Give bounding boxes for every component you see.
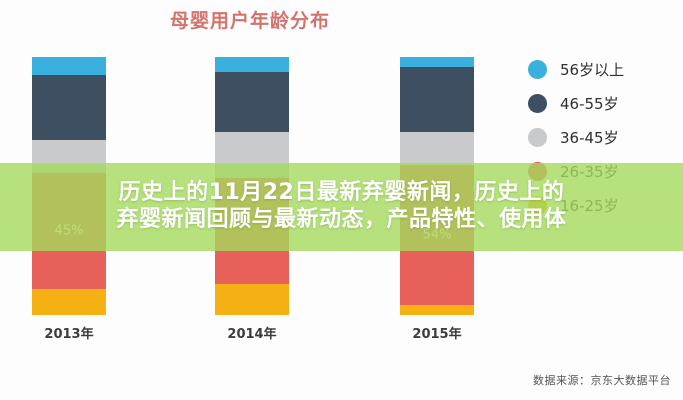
data-source-note: 数据来源：京东大数据平台 bbox=[533, 372, 671, 388]
legend-swatch-icon bbox=[528, 128, 547, 147]
legend-item[interactable]: 36-45岁 bbox=[528, 120, 678, 154]
chart-title: 母婴用户年龄分布 bbox=[0, 6, 500, 33]
bar-segment[interactable] bbox=[400, 57, 474, 67]
legend-swatch-icon bbox=[528, 60, 547, 79]
x-axis-tick-label: 2013年 bbox=[12, 323, 126, 342]
legend-swatch-icon bbox=[528, 94, 547, 113]
legend-item[interactable]: 56岁以上 bbox=[528, 52, 678, 86]
bar-segment[interactable] bbox=[32, 75, 106, 140]
bar-segment[interactable] bbox=[400, 132, 474, 166]
legend-item[interactable]: 46-55岁 bbox=[528, 86, 678, 120]
legend-item-label: 46-55岁 bbox=[560, 93, 619, 114]
legend-item-label: 36-45岁 bbox=[560, 127, 619, 148]
bar-segment[interactable] bbox=[400, 305, 474, 315]
bar-segment[interactable] bbox=[32, 289, 106, 315]
bar-segment[interactable] bbox=[32, 57, 106, 75]
bar-segment[interactable] bbox=[215, 72, 289, 131]
bar-segment[interactable] bbox=[215, 57, 289, 72]
overlay-headline-line: 弃婴新闻回顾与最新动态，产品特性、使用体 bbox=[116, 207, 566, 234]
overlay-headline-line: 历史上的11月22日最新弃婴新闻，历史上的 bbox=[119, 180, 565, 207]
chart-canvas: 母婴用户年龄分布 45%2013年2014年54%2015年 56岁以上46-5… bbox=[0, 0, 683, 400]
bar-segment[interactable] bbox=[215, 284, 289, 315]
legend-item-label: 56岁以上 bbox=[560, 59, 624, 80]
bar-segment[interactable] bbox=[400, 67, 474, 132]
x-axis-tick-label: 2014年 bbox=[195, 323, 309, 342]
x-axis-tick-label: 2015年 bbox=[380, 323, 494, 342]
headline-overlay-banner: 历史上的11月22日最新弃婴新闻，历史上的弃婴新闻回顾与最新动态，产品特性、使用… bbox=[0, 163, 683, 251]
